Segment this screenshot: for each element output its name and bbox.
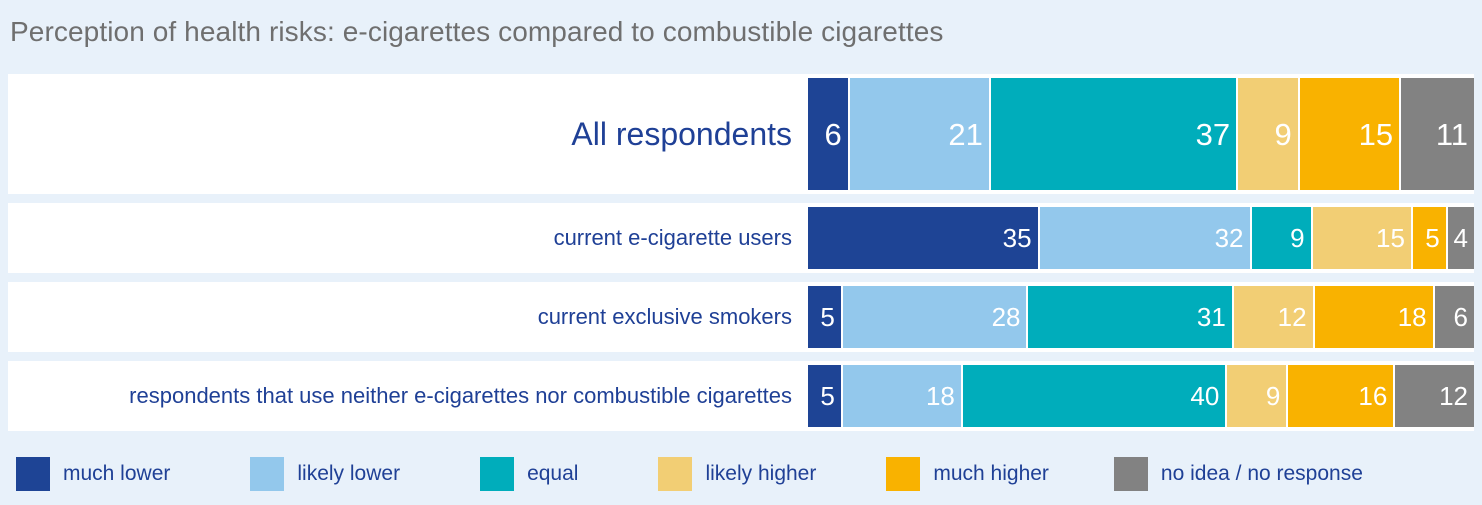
segment-value: 5 bbox=[1425, 225, 1445, 251]
segment-value: 18 bbox=[926, 383, 961, 409]
segment-value: 11 bbox=[1436, 119, 1474, 150]
row-label-text: respondents that use neither e-cigarette… bbox=[129, 383, 792, 409]
chart-row: current e-cigarette users 35 32 9 15 5 4 bbox=[8, 203, 1474, 273]
legend-item-much-higher[interactable]: much higher bbox=[886, 457, 1049, 491]
segment-value: 12 bbox=[1439, 383, 1474, 409]
chart-legend: much lower likely lower equal likely hig… bbox=[8, 451, 1474, 497]
segment-value: 9 bbox=[1290, 225, 1310, 251]
legend-item-no-idea[interactable]: no idea / no response bbox=[1114, 457, 1363, 491]
segment-value: 31 bbox=[1197, 304, 1232, 330]
legend-item-likely-higher[interactable]: likely higher bbox=[658, 457, 816, 491]
bar-segment-much-higher[interactable]: 5 bbox=[1413, 207, 1448, 269]
row-label-text: current exclusive smokers bbox=[538, 304, 792, 330]
segment-value: 5 bbox=[820, 383, 840, 409]
legend-swatch-icon bbox=[886, 457, 920, 491]
bar-segment-likely-higher[interactable]: 9 bbox=[1227, 365, 1288, 427]
chart-container: Perception of health risks: e-cigarettes… bbox=[0, 0, 1482, 505]
legend-label: likely higher bbox=[705, 462, 816, 486]
segment-value: 16 bbox=[1358, 383, 1393, 409]
bar-segment-much-higher[interactable]: 16 bbox=[1288, 365, 1395, 427]
chart-row: respondents that use neither e-cigarette… bbox=[8, 361, 1474, 431]
legend-label: likely lower bbox=[297, 462, 400, 486]
bar-segment-equal[interactable]: 31 bbox=[1028, 286, 1233, 348]
segment-value: 15 bbox=[1376, 225, 1411, 251]
legend-label: much lower bbox=[63, 462, 170, 486]
legend-swatch-icon bbox=[16, 457, 50, 491]
row-label: All respondents bbox=[8, 74, 808, 194]
bar-segment-likely-lower[interactable]: 18 bbox=[843, 365, 963, 427]
legend-swatch-icon bbox=[480, 457, 514, 491]
bar-segment-no-idea[interactable]: 11 bbox=[1401, 78, 1474, 190]
segment-value: 40 bbox=[1190, 383, 1225, 409]
legend-item-equal[interactable]: equal bbox=[480, 457, 578, 491]
segment-value: 35 bbox=[1003, 225, 1038, 251]
bar-segment-much-lower[interactable]: 35 bbox=[808, 207, 1040, 269]
bar-segment-equal[interactable]: 40 bbox=[963, 365, 1227, 427]
bar-segment-much-higher[interactable]: 18 bbox=[1315, 286, 1435, 348]
bar-segment-likely-lower[interactable]: 32 bbox=[1040, 207, 1252, 269]
legend-swatch-icon bbox=[658, 457, 692, 491]
bar-segment-equal[interactable]: 9 bbox=[1252, 207, 1313, 269]
chart-title: Perception of health risks: e-cigarettes… bbox=[10, 16, 944, 48]
bar-segment-equal[interactable]: 37 bbox=[991, 78, 1238, 190]
segment-value: 9 bbox=[1266, 383, 1286, 409]
bar-segment-no-idea[interactable]: 12 bbox=[1395, 365, 1474, 427]
segment-value: 6 bbox=[825, 119, 848, 150]
bar-segment-much-lower[interactable]: 6 bbox=[808, 78, 850, 190]
legend-item-likely-lower[interactable]: likely lower bbox=[250, 457, 400, 491]
row-bar-track: 35 32 9 15 5 4 bbox=[808, 203, 1474, 273]
row-label-text: All respondents bbox=[571, 116, 792, 153]
row-label: current exclusive smokers bbox=[8, 282, 808, 352]
segment-value: 28 bbox=[992, 304, 1027, 330]
bar-segment-likely-higher[interactable]: 9 bbox=[1238, 78, 1300, 190]
segment-value: 21 bbox=[948, 119, 988, 150]
legend-swatch-icon bbox=[1114, 457, 1148, 491]
row-bar-track: 5 28 31 12 18 6 bbox=[808, 282, 1474, 352]
segment-value: 6 bbox=[1454, 304, 1474, 330]
bar-segment-much-higher[interactable]: 15 bbox=[1300, 78, 1401, 190]
segment-value: 15 bbox=[1359, 119, 1399, 150]
segment-value: 5 bbox=[820, 304, 840, 330]
bar-segment-much-lower[interactable]: 5 bbox=[808, 365, 843, 427]
segment-value: 4 bbox=[1454, 225, 1474, 251]
row-bar-track: 5 18 40 9 16 12 bbox=[808, 361, 1474, 431]
bar-segment-likely-higher[interactable]: 12 bbox=[1234, 286, 1315, 348]
bar-segment-likely-lower[interactable]: 28 bbox=[843, 286, 1029, 348]
legend-swatch-icon bbox=[250, 457, 284, 491]
segment-value: 32 bbox=[1215, 225, 1250, 251]
bar-segment-likely-higher[interactable]: 15 bbox=[1313, 207, 1413, 269]
legend-label: no idea / no response bbox=[1161, 462, 1363, 486]
segment-value: 9 bbox=[1274, 119, 1297, 150]
chart-rows: All respondents 6 21 37 9 15 11 current … bbox=[8, 74, 1474, 440]
legend-label: much higher bbox=[933, 462, 1049, 486]
legend-label: equal bbox=[527, 462, 578, 486]
segment-value: 37 bbox=[1196, 119, 1236, 150]
legend-item-much-lower[interactable]: much lower bbox=[16, 457, 170, 491]
bar-segment-much-lower[interactable]: 5 bbox=[808, 286, 843, 348]
chart-row: All respondents 6 21 37 9 15 11 bbox=[8, 74, 1474, 194]
row-label-text: current e-cigarette users bbox=[554, 225, 792, 251]
segment-value: 18 bbox=[1398, 304, 1433, 330]
bar-segment-no-idea[interactable]: 4 bbox=[1448, 207, 1474, 269]
segment-value: 12 bbox=[1278, 304, 1313, 330]
row-label: current e-cigarette users bbox=[8, 203, 808, 273]
row-label: respondents that use neither e-cigarette… bbox=[8, 361, 808, 431]
bar-segment-likely-lower[interactable]: 21 bbox=[850, 78, 991, 190]
bar-segment-no-idea[interactable]: 6 bbox=[1435, 286, 1474, 348]
row-bar-track: 6 21 37 9 15 11 bbox=[808, 74, 1474, 194]
chart-row: current exclusive smokers 5 28 31 12 18 … bbox=[8, 282, 1474, 352]
